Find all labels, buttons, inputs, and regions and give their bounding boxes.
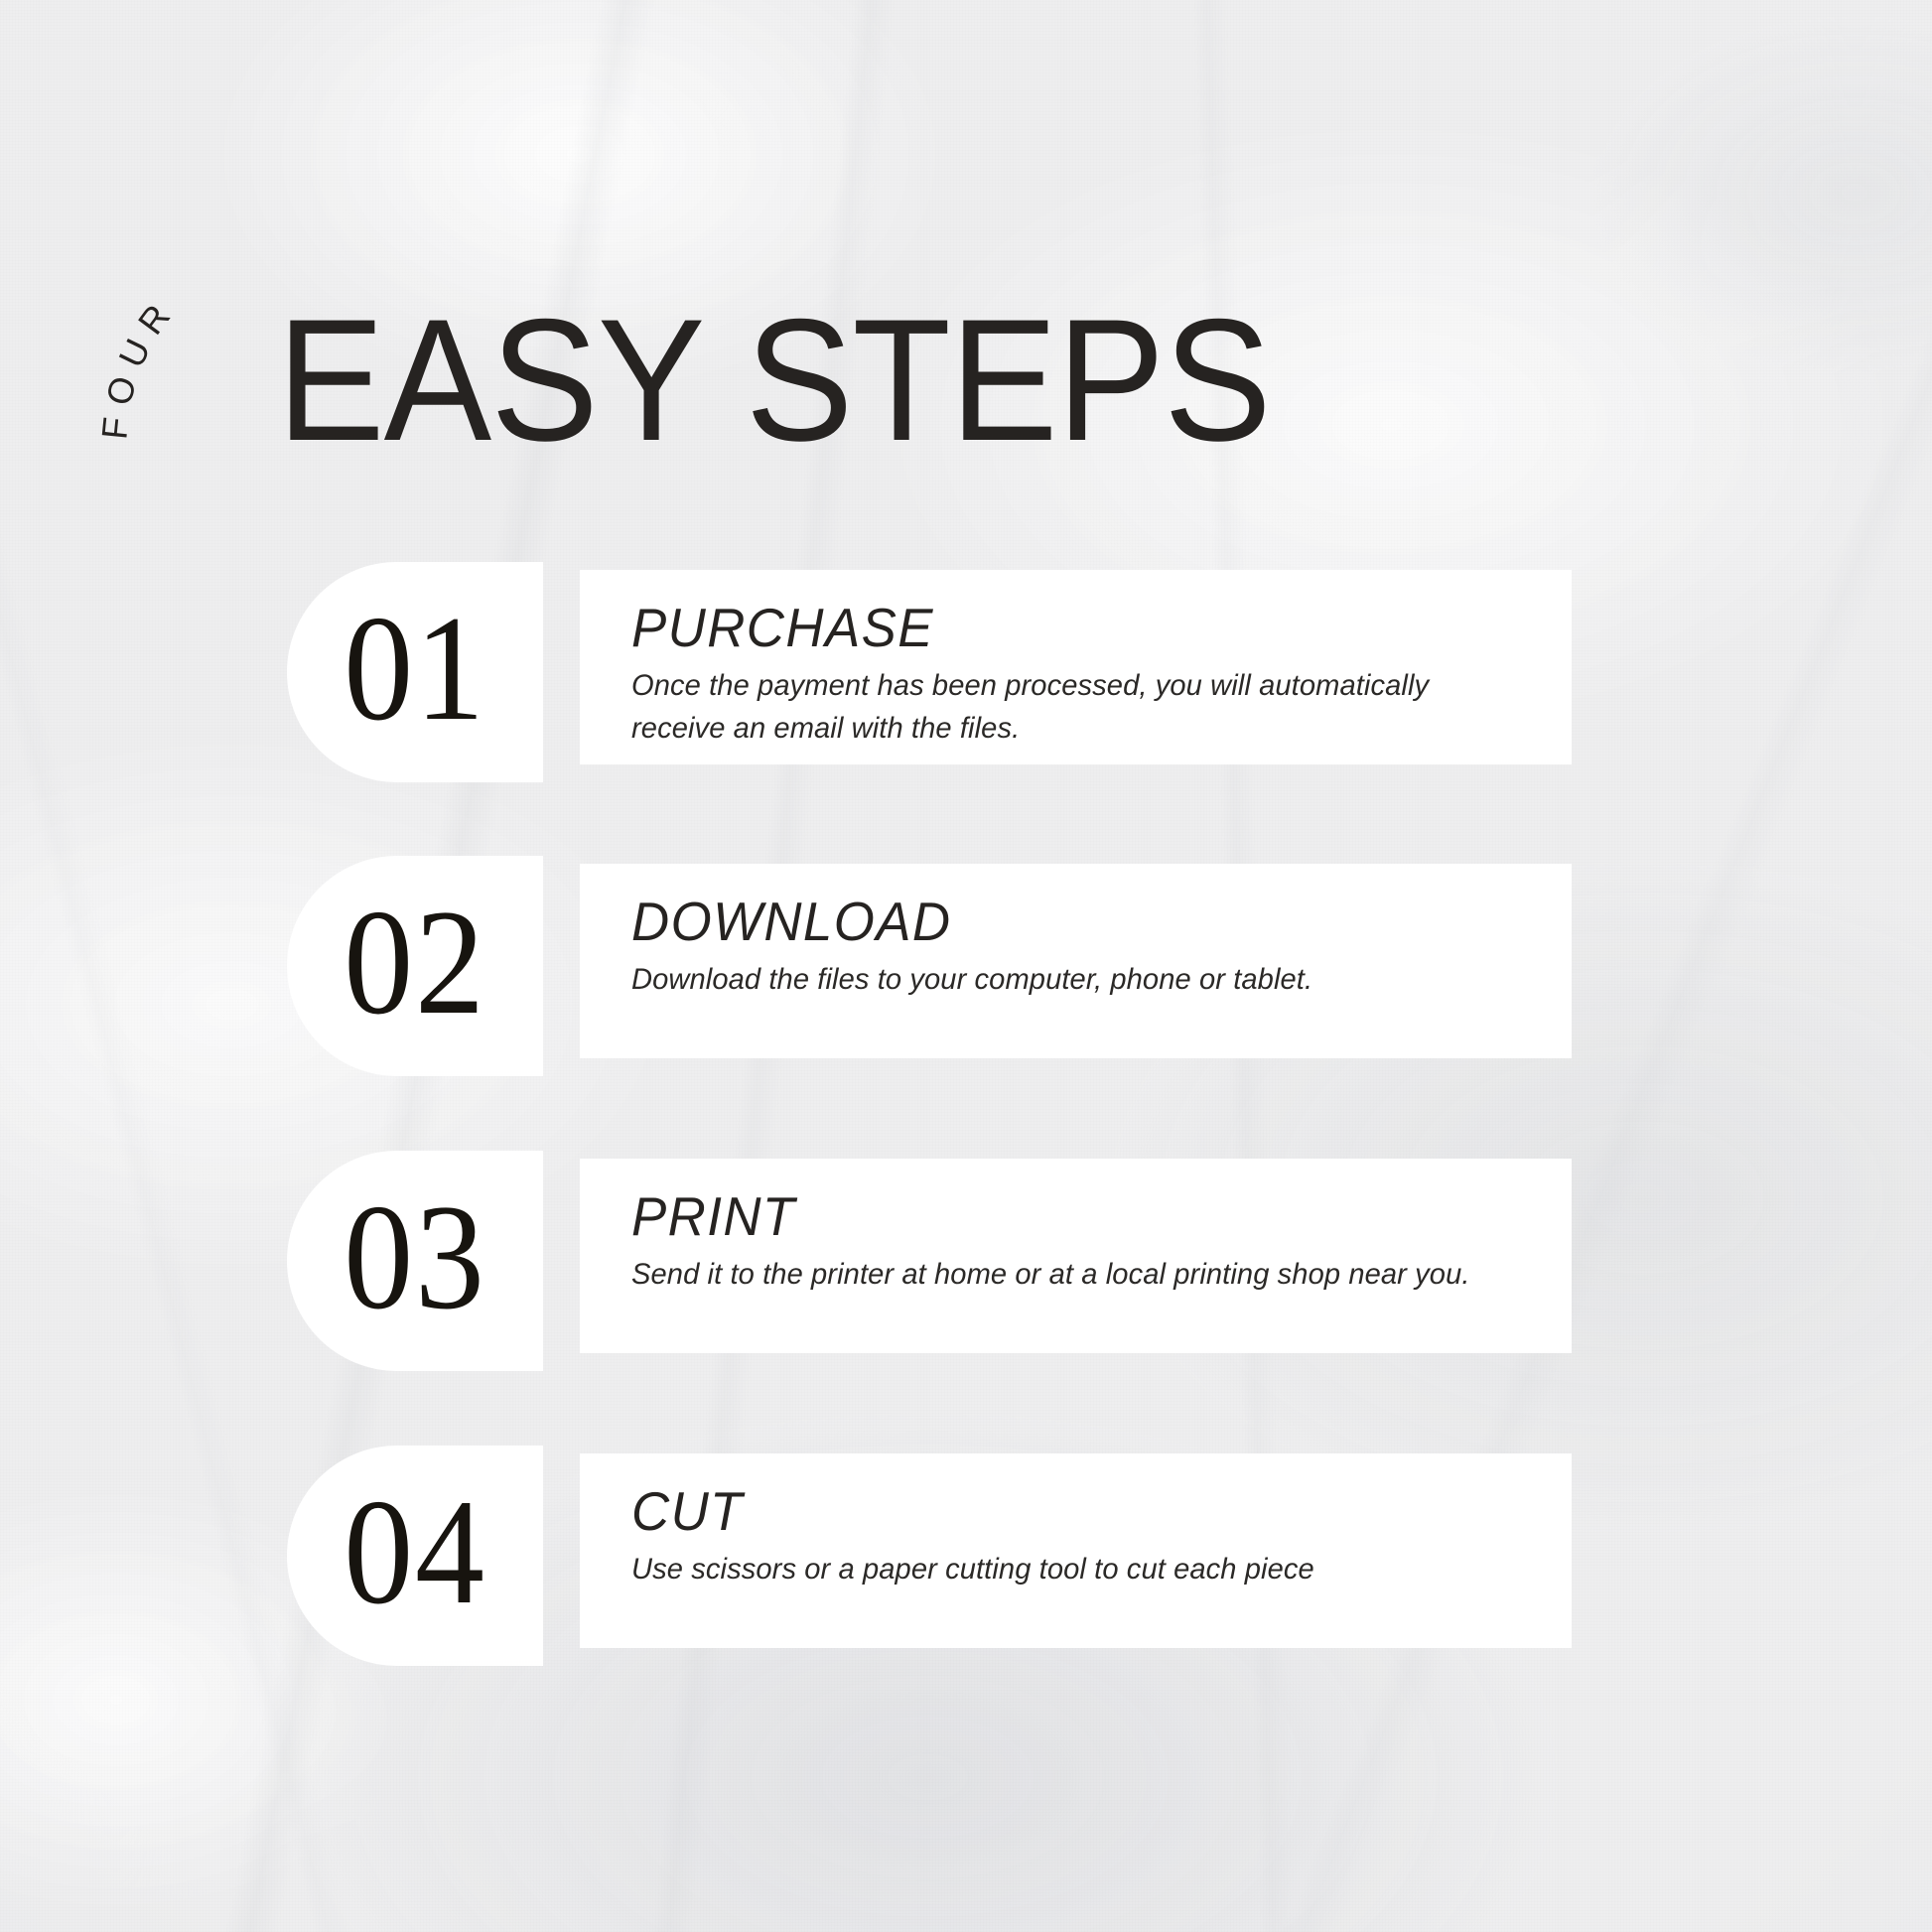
step-item-4: 04 CUT Use scissors or a paper cutting t… [0, 1446, 1932, 1666]
step-description-3: Send it to the printer at home or at a l… [631, 1254, 1505, 1297]
step-item-3: 03 PRINT Send it to the printer at home … [0, 1151, 1932, 1371]
step-number-4: 04 [344, 1476, 486, 1627]
step-card-3: PRINT Send it to the printer at home or … [580, 1159, 1572, 1353]
step-number-3: 03 [344, 1181, 486, 1332]
step-title-4: CUT [631, 1483, 1496, 1539]
step-number-pill-4: 04 [287, 1446, 543, 1666]
step-number-pill-2: 02 [287, 856, 543, 1076]
step-card-2: DOWNLOAD Download the files to your comp… [580, 864, 1572, 1058]
step-number-1: 01 [344, 593, 486, 744]
page-title: EASY STEPS [277, 294, 1271, 468]
step-number-2: 02 [344, 887, 486, 1037]
step-item-2: 02 DOWNLOAD Download the files to your c… [0, 856, 1932, 1076]
step-number-pill-1: 01 [287, 562, 543, 782]
step-description-2: Download the files to your computer, pho… [631, 959, 1505, 1002]
step-description-1: Once the payment has been processed, you… [631, 665, 1505, 751]
step-title-1: PURCHASE [631, 600, 1496, 655]
step-card-4: CUT Use scissors or a paper cutting tool… [580, 1453, 1572, 1648]
step-title-3: PRINT [631, 1188, 1496, 1244]
poster-canvas: FOUR EASY STEPS 01 PURCHASE Once the pay… [0, 0, 1932, 1932]
step-card-1: PURCHASE Once the payment has been proce… [580, 570, 1572, 764]
step-description-4: Use scissors or a paper cutting tool to … [631, 1549, 1505, 1591]
step-title-2: DOWNLOAD [631, 894, 1496, 949]
step-number-pill-3: 03 [287, 1151, 543, 1371]
step-item-1: 01 PURCHASE Once the payment has been pr… [0, 562, 1932, 782]
